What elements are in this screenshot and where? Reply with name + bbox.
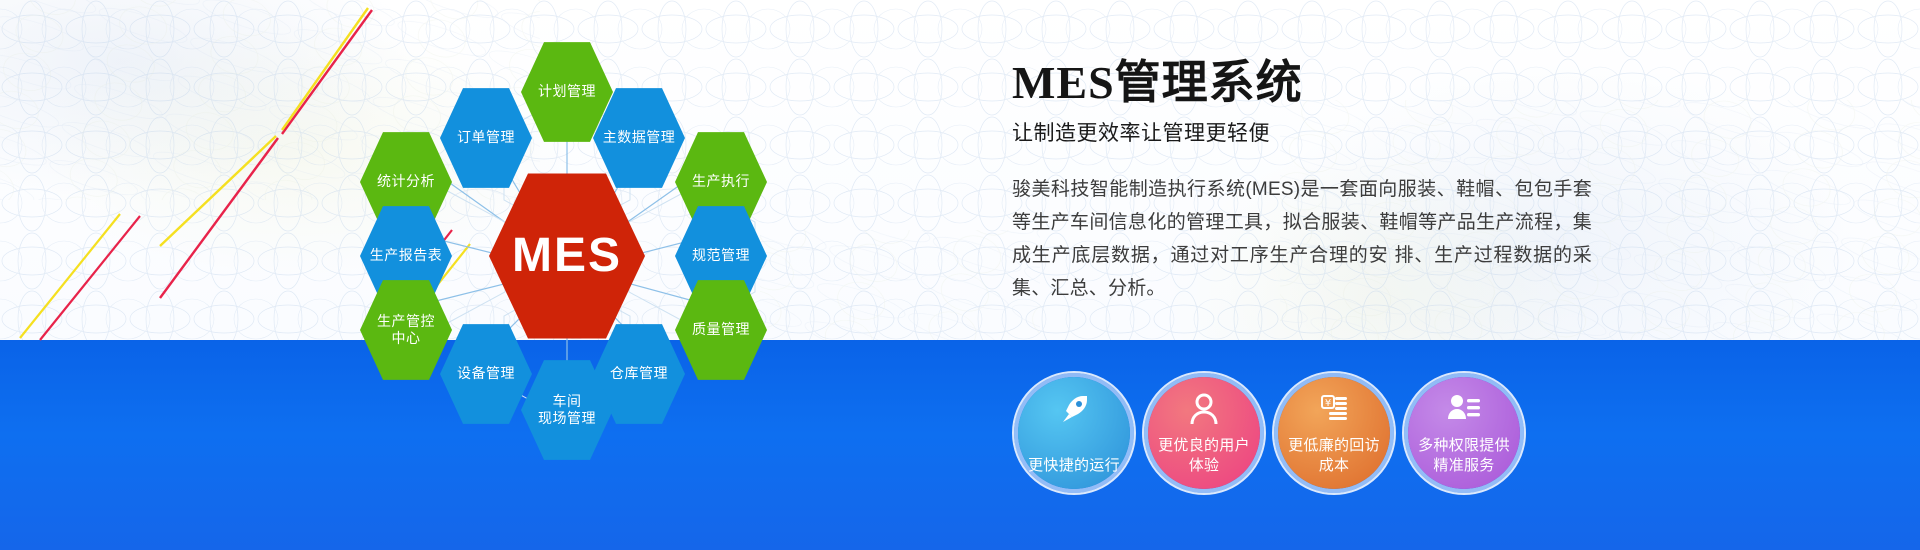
diagram-node-warehouse-label: 仓库管理 [610, 365, 668, 383]
diagram-node-exec-label: 生产执行 [692, 173, 750, 191]
badge-permission[interactable]: 多种权限提供精准服务 [1408, 377, 1520, 489]
diagram-node-center-label: MES [512, 226, 622, 286]
diagram-node-control-label: 生产管控中心 [377, 313, 435, 348]
page-description: 骏美科技智能制造执行系统(MES)是一套面向服装、鞋帽、包包手套等生产车间信息化… [1012, 173, 1592, 306]
badge-speed-label: 更快捷的运行 [1024, 456, 1124, 476]
diagram-node-stats-label: 统计分析 [377, 173, 435, 191]
coins-icon: ¥ [1278, 391, 1390, 427]
badge-cost-label: 更低廉的回访成本 [1284, 436, 1384, 475]
background-blue-sheen [0, 340, 1920, 550]
badge-permission-label: 多种权限提供精准服务 [1414, 436, 1514, 475]
diagram-node-workshop-label: 车间现场管理 [538, 393, 596, 428]
mes-hexagon-diagram: MES 计划管理 订单管理 主数据管理 统计分析 生产执行 生产报告表 规范管理… [330, 18, 810, 438]
user-icon [1148, 391, 1260, 427]
diagram-node-report-label: 生产报告表 [370, 247, 443, 265]
page-subtitle: 让制造更效率让管理更轻便 [1012, 117, 1592, 147]
badge-speed[interactable]: 更快捷的运行 [1018, 377, 1130, 489]
guilloche-pattern [0, 0, 1920, 340]
badge-cost[interactable]: ¥ 更低廉的回访成本 [1278, 377, 1390, 489]
feature-badge-list: 更快捷的运行 更优良的用户体验 ¥ [1018, 377, 1520, 489]
diagram-node-spec-label: 规范管理 [692, 247, 750, 265]
mes-banner: MES 计划管理 订单管理 主数据管理 统计分析 生产执行 生产报告表 规范管理… [0, 0, 1920, 550]
badge-ring [1272, 371, 1396, 495]
banner-copy: MES管理系统 让制造更效率让管理更轻便 骏美科技智能制造执行系统(MES)是一… [1012, 58, 1592, 306]
rocket-icon [1018, 391, 1130, 427]
user-list-icon [1408, 391, 1520, 427]
page-title: MES管理系统 [1012, 58, 1592, 109]
diagram-node-quality-label: 质量管理 [692, 321, 750, 339]
badge-ring [1402, 371, 1526, 495]
diagram-node-plan-label: 计划管理 [538, 83, 596, 101]
diagram-node-equipment-label: 设备管理 [457, 365, 515, 383]
badge-ring [1142, 371, 1266, 495]
badge-experience-label: 更优良的用户体验 [1154, 436, 1254, 475]
badge-ring [1012, 371, 1136, 495]
badge-experience[interactable]: 更优良的用户体验 [1148, 377, 1260, 489]
diagram-node-order-label: 订单管理 [457, 129, 515, 147]
svg-text:¥: ¥ [1325, 398, 1331, 409]
diagram-node-masterdata-label: 主数据管理 [603, 129, 676, 147]
